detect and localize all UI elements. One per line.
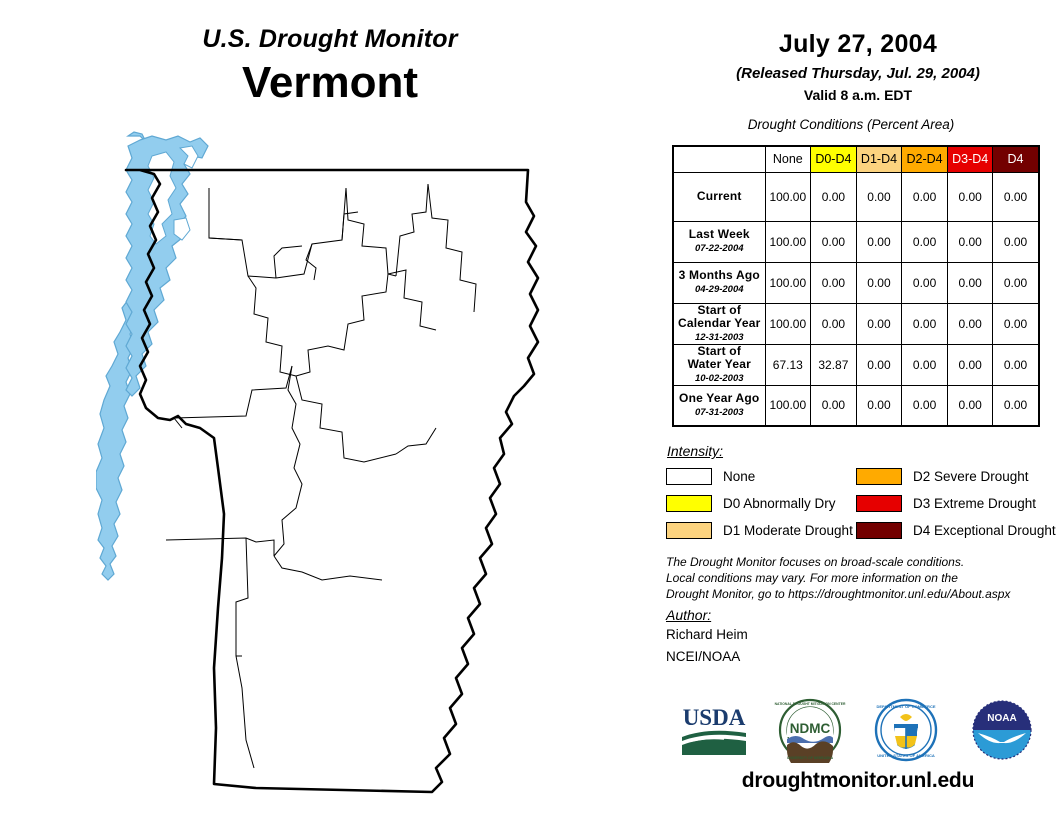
swatch-d0: [666, 495, 712, 512]
usda-logo[interactable]: USDA: [678, 697, 750, 763]
row-label-date: 07-22-2004: [674, 243, 765, 254]
legend-label-d2: D2 Severe Drought: [913, 469, 1029, 484]
rl-line2: Calendar Year: [678, 316, 760, 330]
row-label-3-months-ago: 3 Months Ago 04-29-2004: [673, 262, 765, 303]
row-label-text: Current: [674, 190, 765, 204]
cell-wateryear-d3d4: 0.00: [947, 344, 993, 385]
valid-date: July 27, 2004: [660, 30, 1056, 59]
cell-3months-d4: 0.00: [993, 262, 1039, 303]
rl-line1: Start of: [697, 303, 741, 317]
legend-title: Intensity:: [667, 443, 1056, 459]
swatch-none: [666, 468, 712, 485]
cell-oneyear-d1d4: 0.00: [856, 385, 902, 426]
cell-current-d2d4: 0.00: [902, 172, 948, 221]
swatch-d1: [666, 522, 712, 539]
cell-calyear-d3d4: 0.00: [947, 303, 993, 344]
row-label-one-year-ago: One Year Ago 07-31-2003: [673, 385, 765, 426]
cell-calyear-d2d4: 0.00: [902, 303, 948, 344]
cell-calyear-none: 100.00: [765, 303, 811, 344]
row-label-text: Last Week: [674, 228, 765, 242]
row-label-date: 07-31-2003: [674, 407, 765, 418]
swatch-d2: [856, 468, 902, 485]
cell-current-d1d4: 0.00: [856, 172, 902, 221]
column-header-d4: D4: [993, 146, 1039, 172]
table-row: 3 Months Ago 04-29-2004 100.00 0.00 0.00…: [673, 262, 1039, 303]
cell-lastweek-d1d4: 0.00: [856, 221, 902, 262]
svg-text:NATIONAL DROUGHT MITIGATION CE: NATIONAL DROUGHT MITIGATION CENTER: [775, 702, 846, 706]
table-row: Start ofWater Year 10-02-2003 67.13 32.8…: [673, 344, 1039, 385]
table-row: One Year Ago 07-31-2003 100.00 0.00 0.00…: [673, 385, 1039, 426]
table-caption: Drought Conditions (Percent Area): [660, 117, 1056, 132]
column-header-none: None: [765, 146, 811, 172]
legend-column-left: None D0 Abnormally Dry D1 Moderate Droug…: [666, 465, 852, 546]
row-label-text: 3 Months Ago: [674, 269, 765, 283]
svg-text:UNITED STATES OF AMERICA: UNITED STATES OF AMERICA: [877, 753, 935, 758]
svg-text:UNIVERSITY OF NEBRASKA: UNIVERSITY OF NEBRASKA: [787, 756, 834, 760]
state-title: Vermont: [0, 58, 660, 109]
legend-label-d4: D4 Exceptional Drought: [913, 523, 1056, 538]
cell-calyear-d1d4: 0.00: [856, 303, 902, 344]
cell-current-none: 100.00: [765, 172, 811, 221]
info-panel: July 27, 2004 (Released Thursday, Jul. 2…: [660, 0, 1056, 816]
row-label-text: One Year Ago: [674, 392, 765, 406]
note-line-1: The Drought Monitor focuses on broad-sca…: [666, 554, 1056, 570]
row-label-date: 04-29-2004: [674, 284, 765, 295]
cell-oneyear-d0d4: 0.00: [811, 385, 857, 426]
table-row: Last Week 07-22-2004 100.00 0.00 0.00 0.…: [673, 221, 1039, 262]
swatch-d4: [856, 522, 902, 539]
svg-text:USDA: USDA: [683, 705, 746, 730]
cell-lastweek-d3d4: 0.00: [947, 221, 993, 262]
map-panel: U.S. Drought Monitor Vermont: [0, 0, 660, 816]
state-outline: [126, 170, 538, 792]
cell-current-d3d4: 0.00: [947, 172, 993, 221]
noaa-logo[interactable]: NOAA: [966, 697, 1038, 763]
cell-lastweek-d0d4: 0.00: [811, 221, 857, 262]
cell-lastweek-d4: 0.00: [993, 221, 1039, 262]
legend-label-d0: D0 Abnormally Dry: [723, 496, 836, 511]
cell-wateryear-none: 67.13: [765, 344, 811, 385]
agency-logos: USDA NDMC NATIONAL DROUGHT MITIGATION CE…: [660, 694, 1056, 766]
ndmc-logo[interactable]: NDMC NATIONAL DROUGHT MITIGATION CENTER …: [774, 697, 846, 763]
cell-3months-d2d4: 0.00: [902, 262, 948, 303]
site-url[interactable]: droughtmonitor.unl.edu: [660, 769, 1056, 793]
column-header-d0-d4: D0-D4: [811, 146, 857, 172]
valid-time: Valid 8 a.m. EDT: [660, 87, 1056, 103]
row-label-last-week: Last Week 07-22-2004: [673, 221, 765, 262]
cell-oneyear-d4: 0.00: [993, 385, 1039, 426]
table-header-row: None D0-D4 D1-D4 D2-D4 D3-D4 D4: [673, 146, 1039, 172]
legend-item-d4: D4 Exceptional Drought: [856, 519, 1042, 542]
author-title: Author:: [666, 607, 1056, 623]
note-line-3: Drought Monitor, go to https://droughtmo…: [666, 586, 1056, 602]
cell-3months-none: 100.00: [765, 262, 811, 303]
date-block: July 27, 2004 (Released Thursday, Jul. 2…: [660, 0, 1056, 132]
cell-oneyear-none: 100.00: [765, 385, 811, 426]
legend-label-d1: D1 Moderate Drought: [723, 523, 853, 538]
column-header-d3-d4: D3-D4: [947, 146, 993, 172]
cell-oneyear-d3d4: 0.00: [947, 385, 993, 426]
cell-calyear-d4: 0.00: [993, 303, 1039, 344]
cell-3months-d1d4: 0.00: [856, 262, 902, 303]
legend-column-right: D2 Severe Drought D3 Extreme Drought D4 …: [856, 465, 1042, 546]
legend-label-d3: D3 Extreme Drought: [913, 496, 1036, 511]
cell-lastweek-d2d4: 0.00: [902, 221, 948, 262]
rl-line1: Start of: [697, 344, 741, 358]
cell-wateryear-d0d4: 32.87: [811, 344, 857, 385]
cell-3months-d3d4: 0.00: [947, 262, 993, 303]
cell-wateryear-d4: 0.00: [993, 344, 1039, 385]
cell-lastweek-none: 100.00: [765, 221, 811, 262]
commerce-seal-logo[interactable]: DEPARTMENT OF COMMERCE UNITED STATES OF …: [870, 697, 942, 763]
row-label-current: Current: [673, 172, 765, 221]
cell-calyear-d0d4: 0.00: [811, 303, 857, 344]
row-label-date: 10-02-2003: [674, 373, 765, 384]
map-svg: [96, 128, 576, 800]
legend-item-d1: D1 Moderate Drought: [666, 519, 852, 542]
svg-text:NOAA: NOAA: [987, 713, 1016, 724]
cell-wateryear-d1d4: 0.00: [856, 344, 902, 385]
legend-item-none: None: [666, 465, 852, 488]
disclaimer-notes: The Drought Monitor focuses on broad-sca…: [666, 554, 1056, 602]
swatch-d3: [856, 495, 902, 512]
drought-conditions-table: None D0-D4 D1-D4 D2-D4 D3-D4 D4 Current …: [672, 145, 1040, 427]
program-title: U.S. Drought Monitor: [0, 26, 660, 54]
legend-item-d0: D0 Abnormally Dry: [666, 492, 852, 515]
cell-wateryear-d2d4: 0.00: [902, 344, 948, 385]
table-corner-cell: [673, 146, 765, 172]
author-name: Richard Heim: [666, 625, 1056, 645]
author-block: Author: Richard Heim NCEI/NOAA: [666, 607, 1056, 667]
cell-3months-d0d4: 0.00: [811, 262, 857, 303]
row-label-date: 12-31-2003: [674, 332, 765, 343]
legend-item-d3: D3 Extreme Drought: [856, 492, 1042, 515]
column-header-d2-d4: D2-D4: [902, 146, 948, 172]
county-boundaries: [166, 184, 476, 768]
intensity-legend: Intensity: None D0 Abnormally Dry D1 Mod…: [666, 443, 1056, 546]
release-date: (Released Thursday, Jul. 29, 2004): [660, 65, 1056, 82]
legend-item-d2: D2 Severe Drought: [856, 465, 1042, 488]
vermont-drought-map[interactable]: [96, 128, 576, 800]
column-header-d1-d4: D1-D4: [856, 146, 902, 172]
cell-current-d4: 0.00: [993, 172, 1039, 221]
row-label-text: Start ofCalendar Year: [674, 304, 765, 332]
table-row: Start ofCalendar Year 12-31-2003 100.00 …: [673, 303, 1039, 344]
author-affiliation: NCEI/NOAA: [666, 647, 1056, 667]
row-label-text: Start ofWater Year: [674, 345, 765, 373]
title-block: U.S. Drought Monitor Vermont: [0, 26, 660, 108]
svg-text:DEPARTMENT OF COMMERCE: DEPARTMENT OF COMMERCE: [876, 704, 935, 709]
cell-oneyear-d2d4: 0.00: [902, 385, 948, 426]
note-line-2: Local conditions may vary. For more info…: [666, 570, 1056, 586]
cell-current-d0d4: 0.00: [811, 172, 857, 221]
row-label-start-of-water-year: Start ofWater Year 10-02-2003: [673, 344, 765, 385]
table-row: Current 100.00 0.00 0.00 0.00 0.00 0.00: [673, 172, 1039, 221]
svg-text:NDMC: NDMC: [790, 721, 831, 736]
rl-line2: Water Year: [688, 357, 751, 371]
row-label-start-of-calendar-year: Start ofCalendar Year 12-31-2003: [673, 303, 765, 344]
legend-label-none: None: [723, 469, 755, 484]
